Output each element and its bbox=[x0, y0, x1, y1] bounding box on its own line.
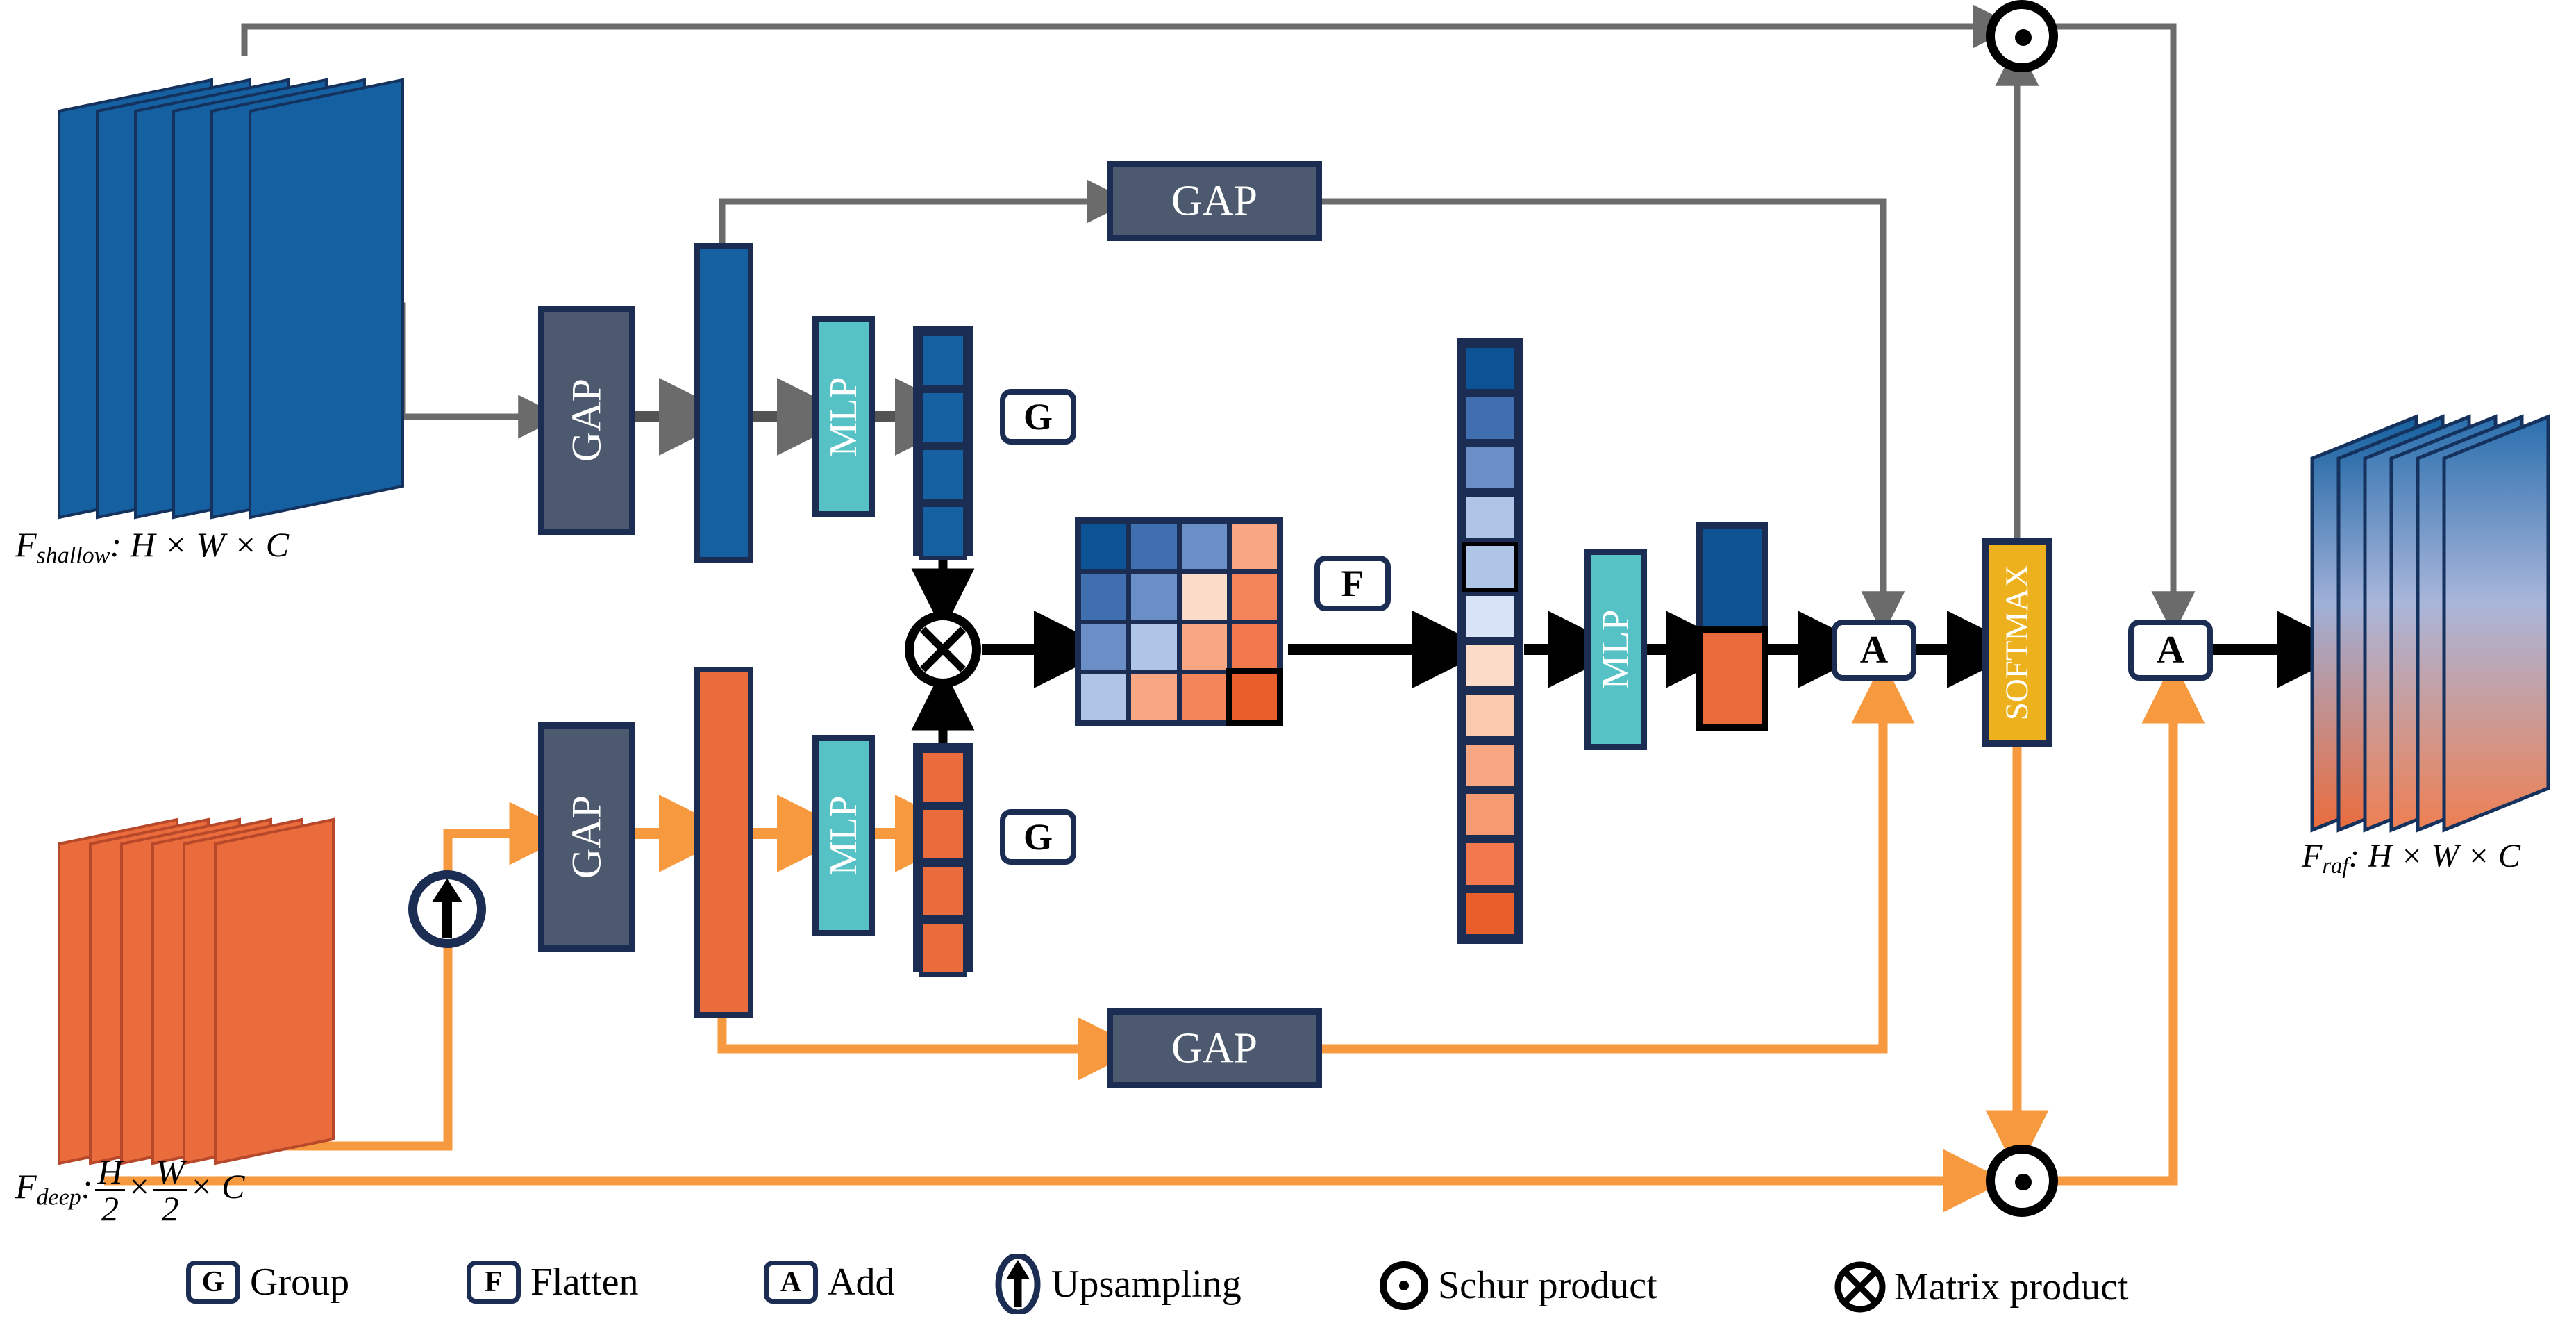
flatten-badge-label: F bbox=[1341, 562, 1364, 605]
mlp-block-deep[interactable]: MLP bbox=[812, 735, 875, 936]
mlp-block-mid[interactable]: MLP bbox=[1584, 549, 1647, 750]
add-badge-left-label: A bbox=[1860, 628, 1888, 672]
flatten-vector bbox=[1457, 338, 1523, 944]
mlp-block-shallow[interactable]: MLP bbox=[812, 316, 875, 517]
shallow-feature-label: Fshallow: H × W × C bbox=[15, 524, 289, 570]
schur-product-icon-bottom bbox=[1986, 1145, 2058, 1217]
legend-item-flatten: F Flatten bbox=[467, 1260, 639, 1304]
gap-block-top-label: GAP bbox=[1171, 176, 1257, 226]
matrix-cell bbox=[1182, 624, 1227, 670]
mlp-block-shallow-label: MLP bbox=[821, 376, 866, 456]
group-badge-shallow: G bbox=[1000, 389, 1076, 445]
matrix-cell bbox=[1232, 674, 1277, 720]
flatten-vector-segment bbox=[1462, 790, 1518, 839]
add-badge-icon: A bbox=[764, 1261, 818, 1304]
gap-block-bottom-label: GAP bbox=[1171, 1024, 1257, 1073]
schur-product-icon-top bbox=[1986, 0, 2058, 72]
matrix-cell bbox=[1232, 524, 1277, 569]
schur-product-icon-legend bbox=[1378, 1260, 1430, 1311]
add-badge-right-label: A bbox=[2157, 628, 2184, 672]
output-feature-stack bbox=[2312, 417, 2548, 830]
matrix-product-icon-legend bbox=[1833, 1260, 1887, 1314]
gap-block-top[interactable]: GAP bbox=[1107, 161, 1322, 241]
legend: G Group F Flatten A Add Ups bbox=[0, 1250, 2576, 1334]
shallow-feature-stack bbox=[59, 80, 403, 517]
matrix-cell bbox=[1081, 624, 1126, 670]
legend-label-group: Group bbox=[250, 1260, 349, 1304]
matrix-cell bbox=[1182, 674, 1227, 720]
group-badge-deep-label: G bbox=[1023, 815, 1053, 858]
upsampling-icon bbox=[408, 870, 486, 948]
gap-block-deep-label: GAP bbox=[563, 795, 611, 879]
mlp-block-deep-label: MLP bbox=[821, 795, 866, 875]
matrix-cell bbox=[1182, 574, 1227, 619]
legend-item-add: A Add bbox=[764, 1260, 894, 1304]
flatten-vector-segment bbox=[1462, 592, 1518, 641]
add-badge-right: A bbox=[2128, 620, 2213, 681]
flatten-vector-segment bbox=[1462, 542, 1518, 591]
output-feature-label: Fraf: H × W × C bbox=[2302, 837, 2520, 879]
gap-block-bottom[interactable]: GAP bbox=[1107, 1008, 1322, 1088]
legend-item-upsampling: Upsampling bbox=[993, 1254, 1241, 1314]
matrix-cell bbox=[1232, 574, 1277, 619]
gap-block-shallow-label: GAP bbox=[563, 379, 611, 462]
flatten-vector-segment bbox=[1462, 740, 1518, 790]
matrix-cell bbox=[1131, 674, 1176, 720]
shallow-group-vector bbox=[913, 326, 973, 556]
gap-block-shallow[interactable]: GAP bbox=[538, 306, 635, 535]
deep-group-vector bbox=[913, 743, 973, 972]
matrix-cell bbox=[1131, 524, 1176, 569]
softmax-block-label: SOFTMAX bbox=[1998, 565, 2036, 721]
deep-feature-stack bbox=[59, 820, 333, 1163]
two-tone-weight-block bbox=[1696, 522, 1768, 731]
legend-label-matrix: Matrix product bbox=[1894, 1265, 2128, 1309]
upsampling-icon-legend bbox=[993, 1254, 1043, 1314]
matrix-cell bbox=[1182, 524, 1227, 569]
matrix-product-icon bbox=[905, 611, 981, 688]
legend-label-upsampling: Upsampling bbox=[1051, 1262, 1241, 1306]
legend-label-add: Add bbox=[828, 1260, 894, 1304]
diagram-canvas: GAP MLP G GAP GAP MLP G GAP bbox=[0, 0, 2576, 1337]
matrix-cell bbox=[1131, 624, 1176, 670]
gap-block-deep[interactable]: GAP bbox=[538, 722, 635, 952]
flatten-vector-segment bbox=[1462, 344, 1518, 393]
shallow-pooled-bar bbox=[694, 243, 753, 563]
legend-item-matrix: Matrix product bbox=[1833, 1260, 2128, 1314]
group-badge-shallow-label: G bbox=[1023, 395, 1053, 438]
two-tone-upper bbox=[1703, 529, 1762, 626]
group-badge-icon: G bbox=[186, 1261, 240, 1304]
legend-item-group: G Group bbox=[186, 1260, 349, 1304]
two-tone-lower bbox=[1696, 626, 1768, 731]
matrix-cell bbox=[1081, 574, 1126, 619]
flatten-vector-segment bbox=[1462, 393, 1518, 442]
legend-label-schur: Schur product bbox=[1438, 1263, 1657, 1308]
deep-feature-label: Fdeep:H2×W2× C bbox=[15, 1154, 245, 1226]
flatten-badge: F bbox=[1314, 556, 1391, 611]
matrix-cell bbox=[1081, 524, 1126, 569]
flatten-vector-segment bbox=[1462, 492, 1518, 542]
matrix-cell bbox=[1081, 674, 1126, 720]
flatten-vector-segment bbox=[1462, 443, 1518, 492]
deep-pooled-bar bbox=[694, 667, 753, 1018]
add-badge-left: A bbox=[1832, 620, 1916, 681]
mlp-block-mid-label: MLP bbox=[1594, 609, 1638, 689]
flatten-vector-segment bbox=[1462, 641, 1518, 690]
flatten-vector-segment bbox=[1462, 839, 1518, 888]
matrix-cell bbox=[1232, 624, 1277, 670]
softmax-block[interactable]: SOFTMAX bbox=[1982, 538, 2052, 747]
flatten-vector-segment bbox=[1462, 690, 1518, 740]
matrix-cell bbox=[1131, 574, 1176, 619]
legend-item-schur: Schur product bbox=[1378, 1260, 1657, 1311]
attention-matrix bbox=[1075, 517, 1283, 726]
flatten-badge-icon: F bbox=[467, 1261, 521, 1304]
group-badge-deep: G bbox=[1000, 809, 1076, 865]
flatten-vector-segment bbox=[1462, 889, 1518, 938]
legend-label-flatten: Flatten bbox=[530, 1260, 639, 1304]
